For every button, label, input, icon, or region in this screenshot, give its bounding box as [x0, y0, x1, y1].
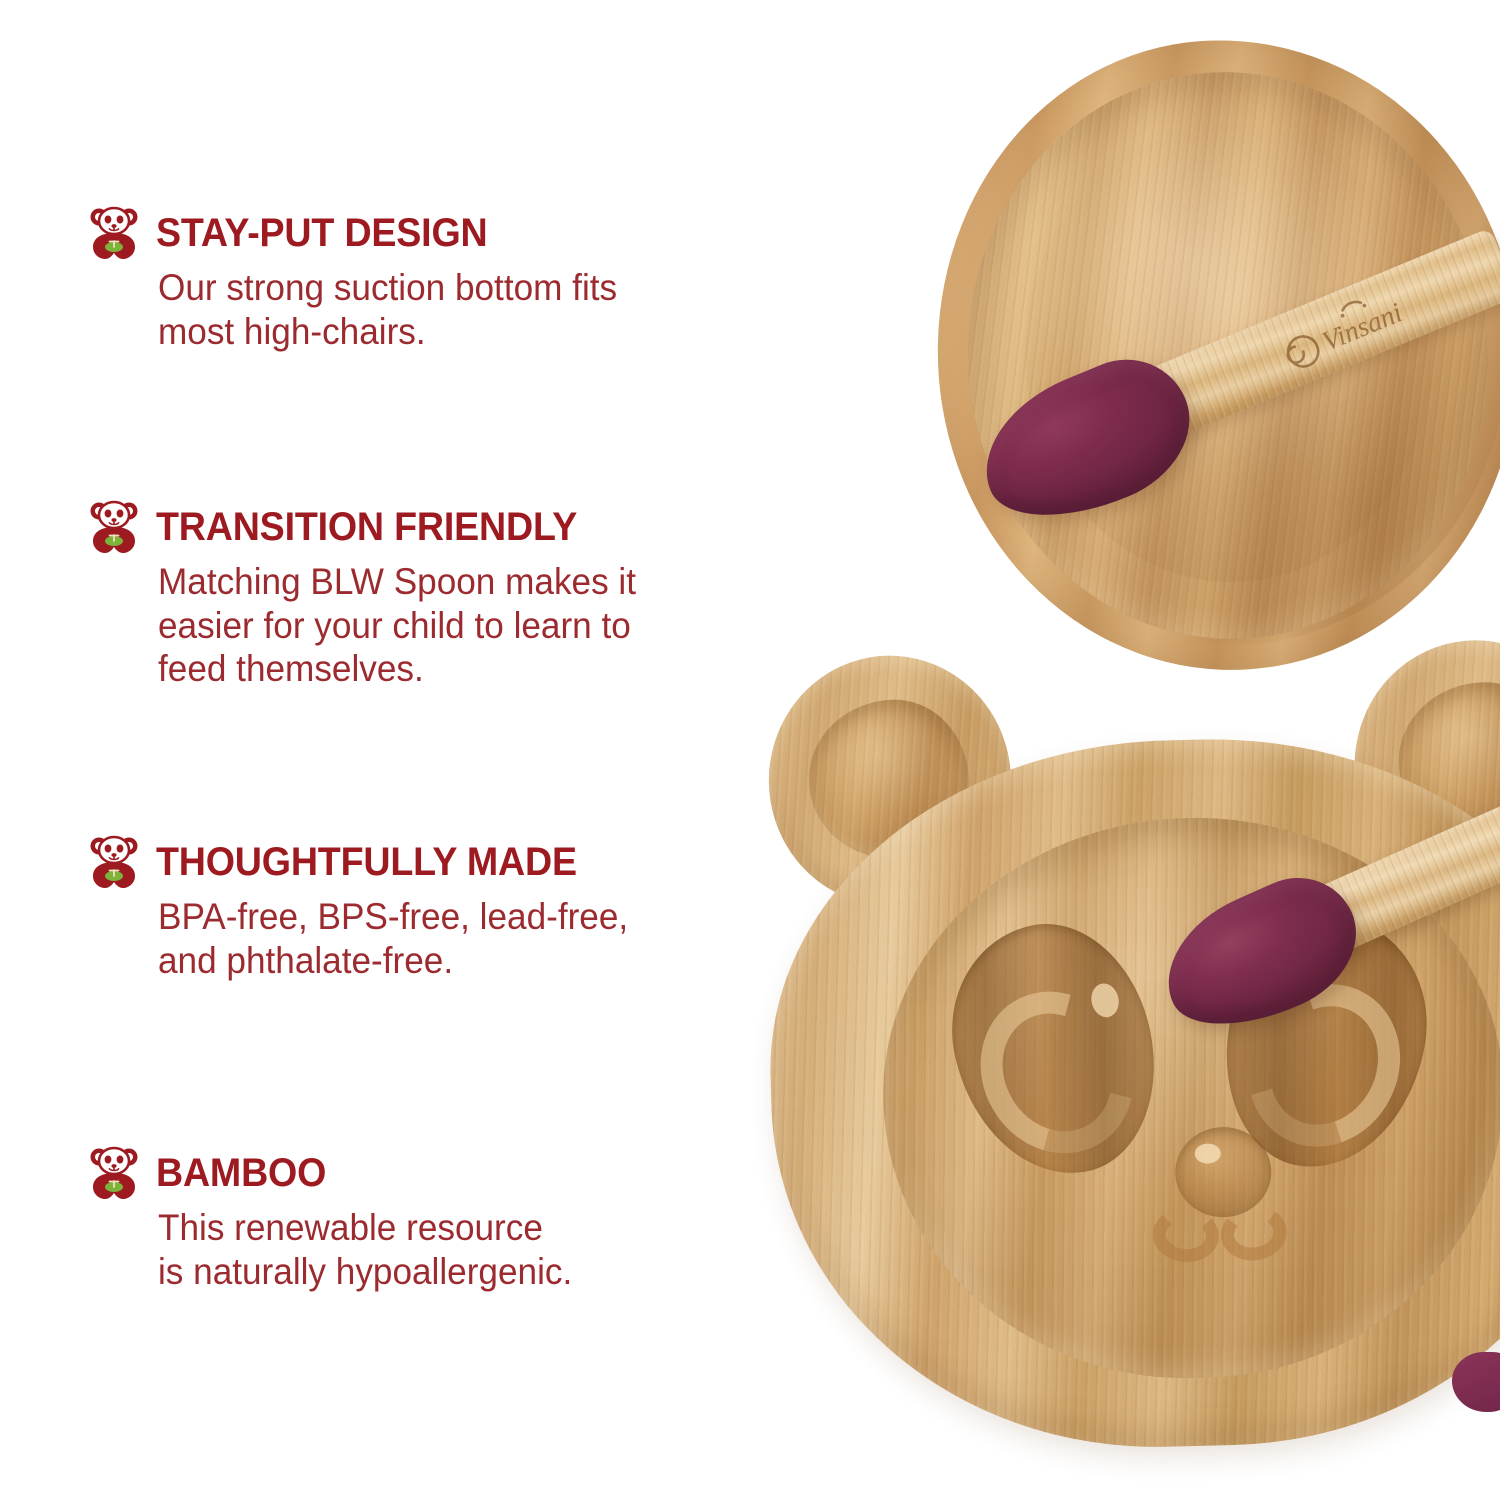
feature-heading-row: THOUGHTFULLY MADE	[88, 835, 778, 889]
product-feature-infographic: Vinsani	[0, 0, 1500, 1500]
feature-heading-row: TRANSITION FRIENDLY	[88, 500, 778, 554]
feature-title: THOUGHTFULLY MADE	[156, 842, 577, 882]
panda-mouth-right	[1218, 1202, 1290, 1264]
svg-text:Vinsani: Vinsani	[1318, 297, 1407, 358]
feature-description: This renewable resource is naturally hyp…	[158, 1206, 747, 1293]
feature-list: STAY-PUT DESIGN Our strong suction botto…	[0, 0, 790, 1500]
panda-mouth	[1152, 1205, 1301, 1267]
feature-description: BPA-free, BPS-free, lead-free, and phtha…	[158, 895, 747, 982]
panda-icon	[88, 206, 140, 260]
panda-icon	[88, 1146, 140, 1200]
feature-item-thoughtfully-made: THOUGHTFULLY MADE BPA-free, BPS-free, le…	[88, 835, 778, 982]
feature-description: Our strong suction bottom fits most high…	[158, 266, 747, 353]
feature-item-stay-put-design: STAY-PUT DESIGN Our strong suction botto…	[88, 206, 778, 353]
feature-title: BAMBOO	[156, 1153, 326, 1193]
feature-title: TRANSITION FRIENDLY	[156, 507, 577, 547]
feature-title: STAY-PUT DESIGN	[156, 213, 487, 253]
feature-heading-row: BAMBOO	[88, 1146, 778, 1200]
feature-heading-row: STAY-PUT DESIGN	[88, 206, 778, 260]
panda-mouth-left	[1151, 1206, 1221, 1265]
feature-item-transition-friendly: TRANSITION FRIENDLY Matching BLW Spoon m…	[88, 500, 778, 691]
panda-bamboo-plate	[760, 637, 1500, 1459]
panda-icon	[88, 500, 140, 554]
panda-icon	[88, 835, 140, 889]
feature-description: Matching BLW Spoon makes it easier for y…	[158, 560, 747, 691]
panda-eye-highlight-left	[1088, 981, 1122, 1020]
feature-item-bamboo: BAMBOO This renewable resource is natura…	[88, 1146, 778, 1293]
